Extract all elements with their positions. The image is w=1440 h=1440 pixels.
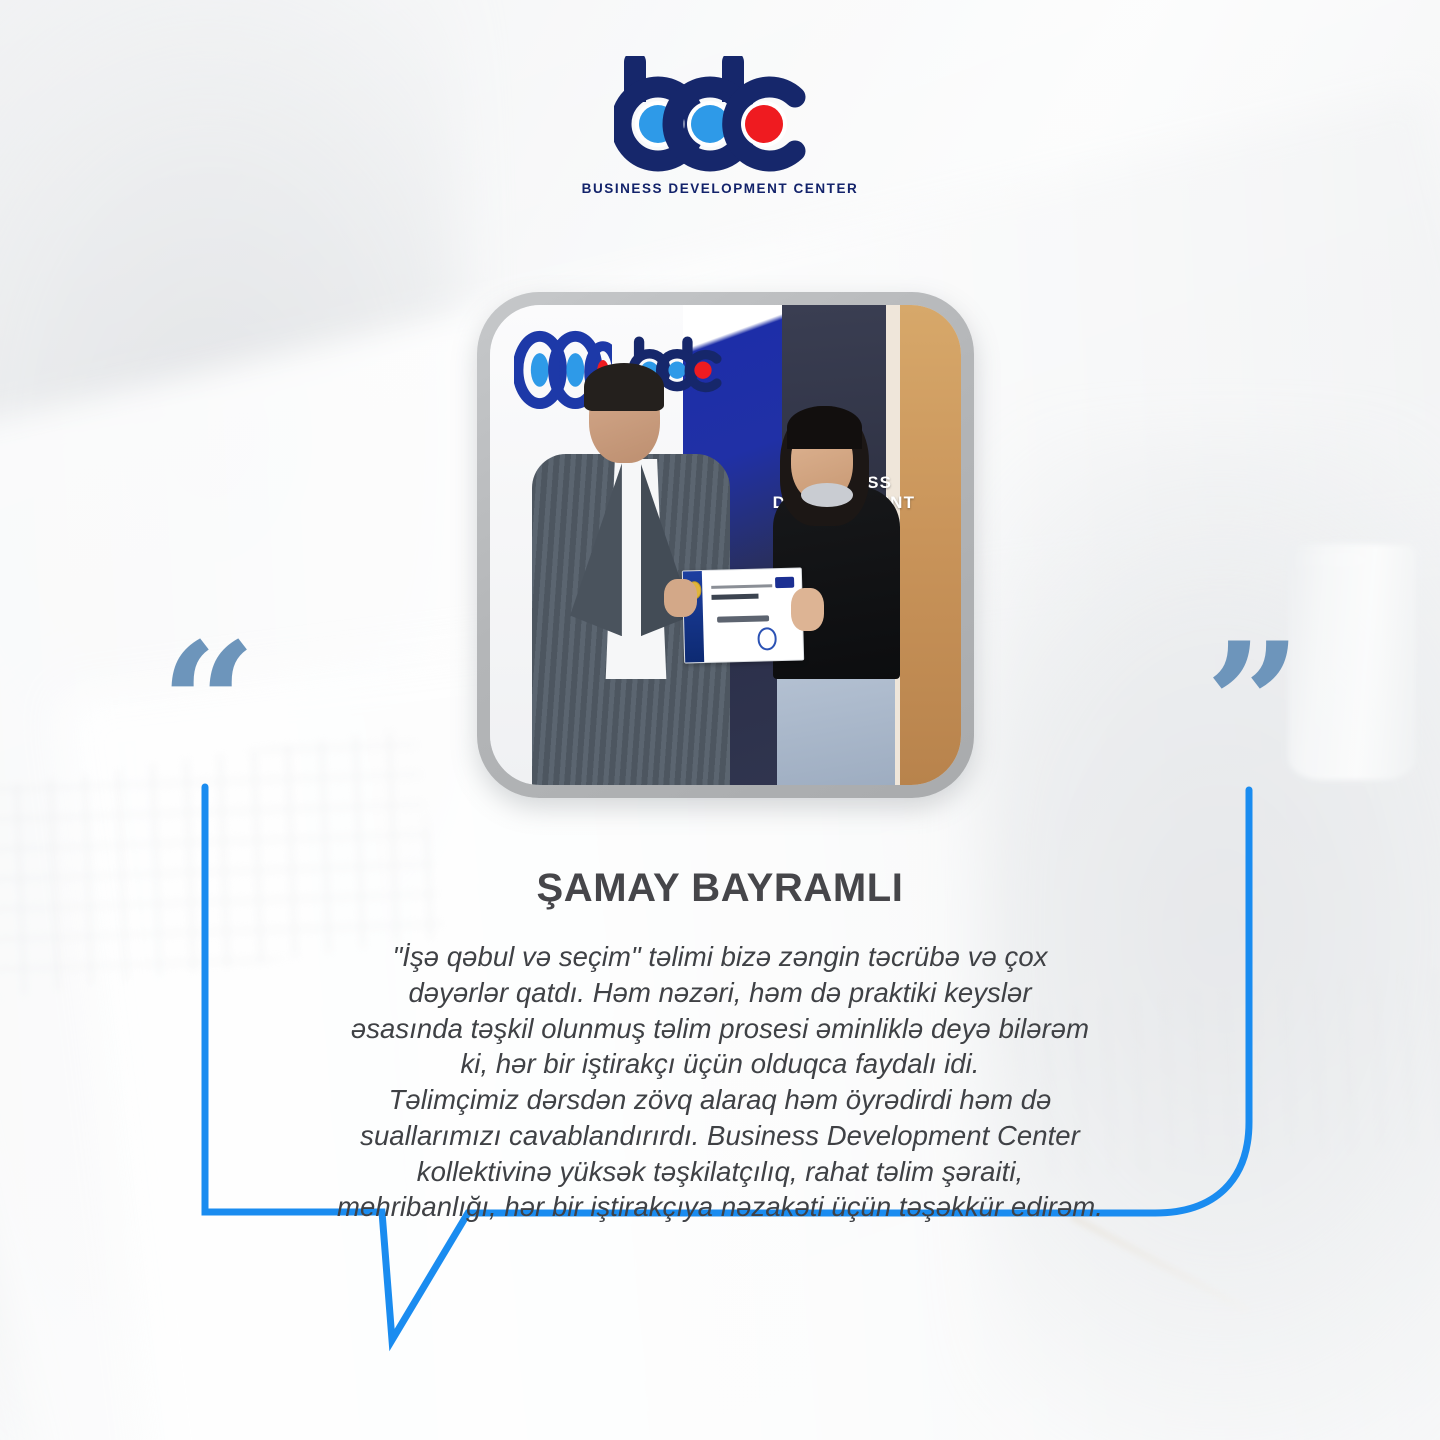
certificate-stamp-icon (757, 627, 777, 650)
quote-line: dəyərlər qatdı. Həm nəzəri, həm də prakt… (228, 975, 1212, 1011)
photo-woman-necklace (801, 483, 853, 507)
testimonial-poster: BUSINESS DEVELOPMENT CENTER (0, 0, 1440, 1440)
background-mug (1288, 545, 1416, 780)
quote-line: "İşə qəbul və seçim" təlimi bizə zəngin … (228, 939, 1212, 975)
award-photo-card: BUSINESSDEVELOPMENTCENTER (477, 292, 974, 798)
quote-line: mehribanlığı, hər bir iştirakçıya nəzakə… (228, 1189, 1212, 1225)
photo-man-hand (664, 579, 697, 617)
certificate-title (712, 593, 759, 600)
quote-line: Təlimçimiz dərsdən zövq alaraq həm öyrəd… (228, 1082, 1212, 1118)
photo-man-hair (584, 363, 664, 411)
photo-certificate (682, 567, 804, 663)
certificate-line-1 (712, 584, 773, 589)
quote-line: suallarımızı cavablandırırdı. Business D… (228, 1118, 1212, 1154)
brand-logo-caption: BUSINESS DEVELOPMENT CENTER (582, 181, 859, 196)
quote-line: kollektivinə yüksək təşkilatçılıq, rahat… (228, 1154, 1212, 1190)
quote-line: ki, hər bir iştirakçı üçün olduqca fayda… (228, 1046, 1212, 1082)
quote-text: "İşə qəbul və seçim" təlimi bizə zəngin … (228, 939, 1212, 1225)
quote-close-icon: ” (1205, 620, 1302, 788)
photo-woman-hair-front (787, 406, 862, 449)
quote-line: əsasında təşkil olunmuş təlim prosesi əm… (228, 1011, 1212, 1047)
photo-woman-hand (791, 588, 824, 631)
quote-open-icon: “ (160, 620, 257, 788)
bdc-logo-icon (614, 56, 826, 174)
certificate-bdc-logo-icon (775, 577, 794, 588)
certificate-recipient-name (717, 615, 769, 623)
photo-door (900, 305, 961, 785)
person-name: ŞAMAY BAYRAMLI (228, 866, 1212, 911)
brand-logo: BUSINESS DEVELOPMENT CENTER (0, 56, 1440, 196)
award-photo: BUSINESSDEVELOPMENTCENTER (490, 305, 961, 785)
testimonial-block: ŞAMAY BAYRAMLI "İşə qəbul və seçim" təli… (228, 866, 1212, 1225)
